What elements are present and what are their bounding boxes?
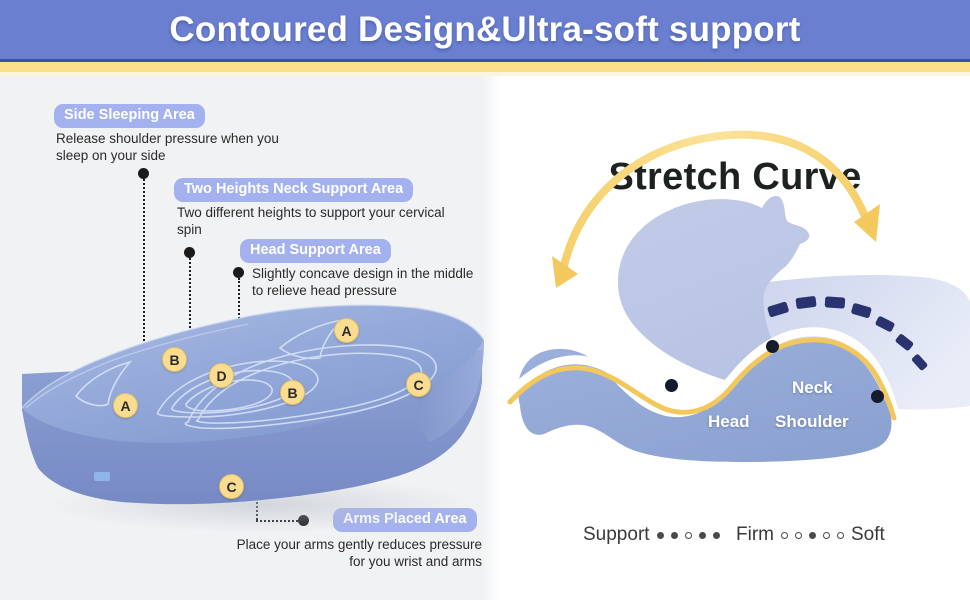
callout-text-two-heights-neck-support-area: Two different heights to support your ce… (177, 204, 497, 239)
scale-support-dot-3 (685, 532, 692, 539)
badge-two-heights-neck-support-area: Two Heights Neck Support Area (174, 178, 413, 202)
pillow-marker-c-front: C (219, 474, 244, 499)
pillow-svg (12, 290, 502, 540)
right-panel: Stretch Curve (500, 76, 970, 600)
scale-firm-dot-5 (837, 532, 844, 539)
scale-support-label: Support (583, 524, 650, 546)
header-banner: Contoured Design&Ultra-soft support (0, 0, 970, 59)
scale-support-dot-2 (671, 532, 678, 539)
scale-firm-dot-2 (795, 532, 802, 539)
label-head: Head (708, 412, 750, 432)
callout-text-arms-placed-area: Place your arms gently reduces pressure … (180, 536, 482, 571)
product-infographic: Contoured Design&Ultra-soft support Side… (0, 0, 970, 600)
scale-firm-dot-1 (781, 532, 788, 539)
pillow-marker-b-right: B (280, 380, 305, 405)
scale-firm-dot-3 (809, 532, 816, 539)
scale-firmness: Firm Soft (736, 524, 885, 546)
scale-firm-label: Firm (736, 524, 774, 546)
label-shoulder: Shoulder (775, 412, 849, 432)
scale-firmness-dots (781, 532, 844, 539)
pillow-marker-a-left: A (113, 393, 138, 418)
banner-gold-band (0, 62, 970, 72)
leader-dot-b (184, 247, 195, 258)
pillow-marker-b-left: B (162, 347, 187, 372)
pillow-marker-d: D (209, 363, 234, 388)
pillow-marker-a-top: A (334, 318, 359, 343)
scale-support-dot-1 (657, 532, 664, 539)
stretch-curve-svg (500, 76, 970, 546)
scale-soft-label: Soft (851, 524, 885, 546)
badge-side-sleeping-area: Side Sleeping Area (54, 104, 205, 128)
anchor-dot-neck (766, 340, 779, 353)
leader-dot-d (233, 267, 244, 278)
scale-support-dots (657, 532, 720, 539)
firmness-scales: Support Firm Soft (500, 518, 970, 558)
scale-support-dot-4 (699, 532, 706, 539)
label-neck: Neck (792, 378, 833, 398)
anchor-dot-head (665, 379, 678, 392)
pillow-tag (94, 472, 110, 481)
badge-head-support-area: Head Support Area (240, 239, 391, 263)
scale-support-dot-5 (713, 532, 720, 539)
page-title: Contoured Design&Ultra-soft support (169, 10, 800, 50)
anchor-dot-shoulder (871, 390, 884, 403)
scale-support: Support (583, 524, 720, 546)
scale-firm-dot-4 (823, 532, 830, 539)
pillow-illustration: A B D B C A C (12, 290, 502, 540)
callout-text-side-sleeping-area: Release shoulder pressure when you sleep… (56, 130, 356, 165)
leader-dot-a (138, 168, 149, 179)
pillow-marker-c-right: C (406, 372, 431, 397)
